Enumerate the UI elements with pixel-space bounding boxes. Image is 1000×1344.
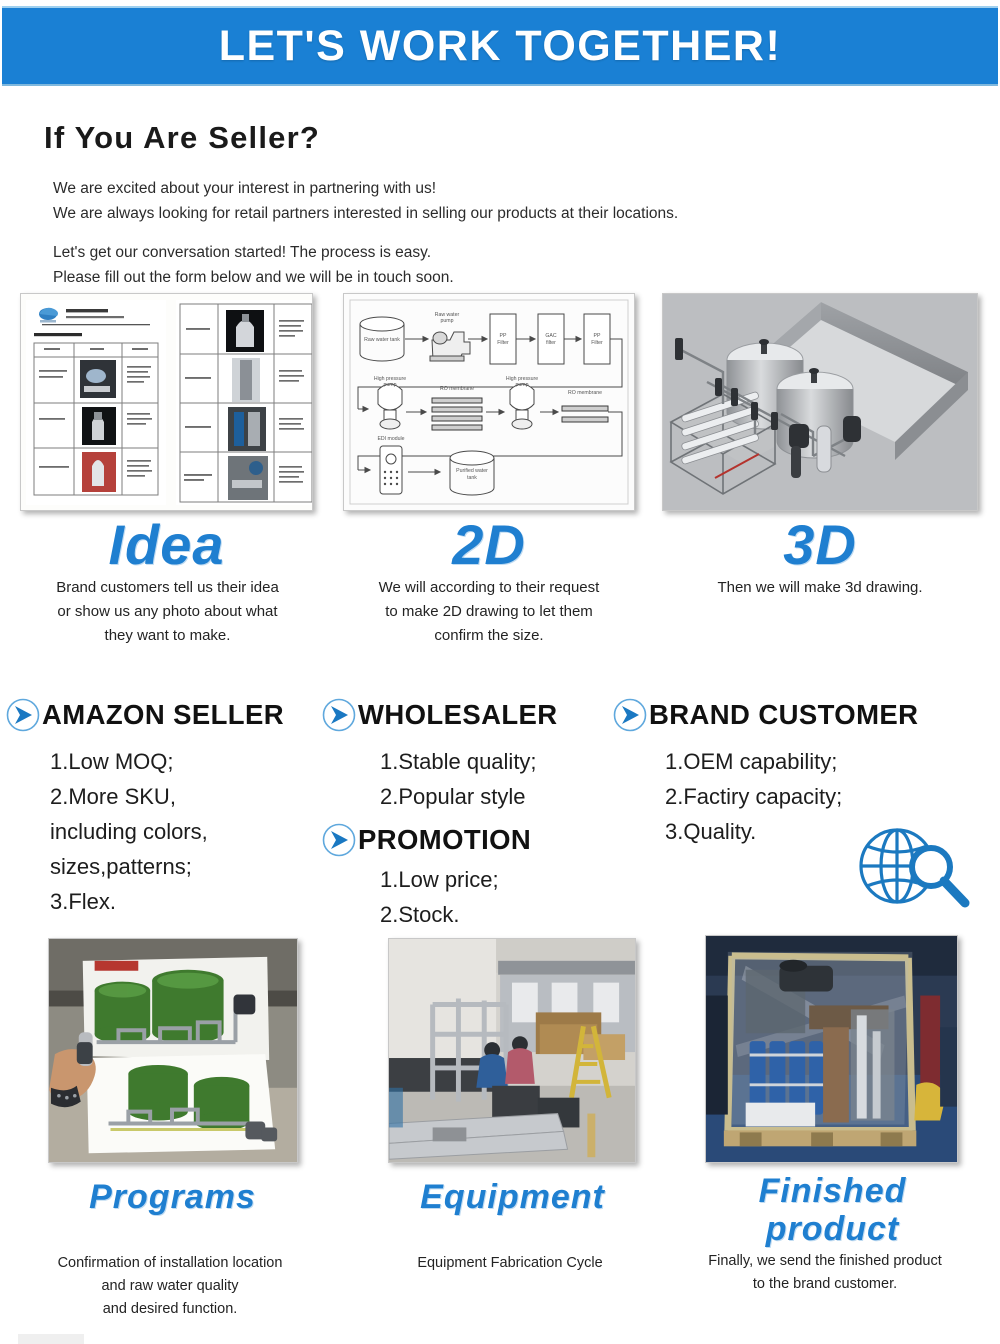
list-item: 2.Popular style [380,779,537,814]
svg-text:RO membrane: RO membrane [568,390,602,396]
list-item: 3.Quality. [665,814,842,849]
process-flow-diagram: Raw water tank Raw waterpump PPFilter GA… [344,294,634,510]
svg-text:PP: PP [594,333,601,339]
catalog-right-artwork [176,300,313,505]
idea-image-card [20,293,313,511]
step-caption-equipment: Equipment Fabrication Cycle [360,1252,660,1275]
caption-line: Then we will make 3d drawing. [662,576,978,600]
svg-text:Purified water: Purified water [456,468,488,474]
list-item: 2.More SKU, [50,779,208,814]
step-caption-finished-product: Finally, we send the finished product to… [660,1250,990,1296]
svg-text:Raw water tank: Raw water tank [364,337,400,343]
list-item: including colors, [50,814,208,849]
list-item: 2.Stock. [380,897,499,932]
intro-line-3: Let's get our conversation started! The … [53,240,454,265]
intro-paragraph-2: Let's get our conversation started! The … [53,240,454,290]
promo-page: LET'S WORK TOGETHER! If You Are Seller? … [0,0,1000,1344]
list-item: 2.Factiry capacity; [665,779,842,814]
list-item: 1.OEM capability; [665,744,842,779]
svg-text:PP: PP [500,333,507,339]
step-caption-idea: Brand customers tell us their idea or sh… [10,576,325,648]
svg-text:Filter: Filter [497,340,509,346]
list-item: sizes,patterns; [50,849,208,884]
caption-line: Confirmation of installation location [10,1252,330,1275]
caption-line: Equipment Fabrication Cycle [360,1252,660,1275]
intro-line-4: Please fill out the form below and we wi… [53,265,454,290]
svg-text:GAC: GAC [545,333,556,339]
audience-title: AMAZON SELLER [42,699,284,731]
step-word-3d: 3D [662,512,978,577]
intro-line-1: We are excited about your interest in pa… [53,176,678,201]
catalog-left-artwork [26,300,166,505]
step-word-equipment: Equipment [375,1178,650,1217]
step-caption-2d: We will according to their request to ma… [338,576,640,648]
audience-heading-brand-customer: BRAND CUSTOMER [613,698,918,732]
svg-text:tank: tank [467,475,477,481]
globe-search-icon [855,820,973,912]
arrow-circle-icon [322,823,356,857]
audience-list-amazon-seller: 1.Low MOQ; 2.More SKU, including colors,… [50,744,208,919]
programs-photo-card [48,938,298,1163]
page-bottom-edge [18,1334,84,1344]
step-word-2d: 2D [343,512,635,577]
audience-title: WHOLESALER [358,699,558,731]
packed-pallet-photo [706,936,957,1162]
audience-list-promotion: 1.Low price; 2.Stock. [380,862,499,932]
audience-heading-amazon-seller: AMAZON SELLER [6,698,284,732]
banner-title: LET'S WORK TOGETHER! [219,22,782,71]
caption-line: and raw water quality [10,1275,330,1298]
audience-title: BRAND CUSTOMER [649,699,918,731]
audience-heading-promotion: PROMOTION [322,823,531,857]
svg-text:Filter: Filter [591,340,603,346]
svg-text:pump: pump [516,382,529,388]
arrow-circle-icon [6,698,40,732]
step-word-finished-product: Finished product [700,1172,965,1248]
caption-line: Brand customers tell us their idea [10,576,325,600]
list-item: 3.Flex. [50,884,208,919]
caption-line: to the brand customer. [660,1273,990,1296]
list-item: 1.Low price; [380,862,499,897]
caption-line: We will according to their request [338,576,640,600]
arrow-circle-icon [613,698,647,732]
arrow-circle-icon [322,698,356,732]
three-d-render-card [662,293,978,511]
catalog-spread-image [21,294,312,510]
seller-heading: If You Are Seller? [44,120,320,156]
list-item: 1.Low MOQ; [50,744,208,779]
caption-line: they want to make. [10,624,325,648]
intro-paragraph-1: We are excited about your interest in pa… [53,176,678,226]
catalog-right-page [171,294,313,510]
intro-line-2: We are always looking for retail partner… [53,201,678,226]
audience-list-wholesaler: 1.Stable quality; 2.Popular style [380,744,537,814]
caption-line: confirm the size. [338,624,640,648]
audience-title: PROMOTION [358,824,531,856]
audience-heading-wholesaler: WHOLESALER [322,698,558,732]
audience-list-brand-customer: 1.OEM capability; 2.Factiry capacity; 3.… [665,744,842,849]
svg-text:EDI module: EDI module [377,436,404,442]
flow-diagram-svg: Raw water tank Raw waterpump PPFilter GA… [344,294,634,510]
list-item: 1.Stable quality; [380,744,537,779]
caption-line: and desired function. [10,1298,330,1321]
workshop-photo [389,939,635,1162]
two-d-drawing-card: Raw water tank Raw waterpump PPFilter GA… [343,293,635,511]
svg-text:pump: pump [441,318,454,324]
finished-product-photo-card [705,935,958,1163]
step-word-idea: Idea [20,512,313,577]
step-caption-3d: Then we will make 3d drawing. [662,576,978,600]
svg-text:filter: filter [546,340,556,346]
equipment-photo-card [388,938,636,1163]
caption-line: to make 2D drawing to let them [338,600,640,624]
step-caption-programs: Confirmation of installation location an… [10,1252,330,1321]
caption-line: Finally, we send the finished product [660,1250,990,1273]
cad-render-image [663,294,977,510]
header-banner: LET'S WORK TOGETHER! [2,6,998,86]
cad-render-svg [663,294,977,510]
svg-text:RO membrane: RO membrane [440,386,474,392]
catalog-left-page [21,294,171,510]
hand-holding-design-photo [49,939,297,1162]
step-word-programs: Programs [40,1178,305,1217]
caption-line: or show us any photo about what [10,600,325,624]
svg-text:pump: pump [384,382,397,388]
